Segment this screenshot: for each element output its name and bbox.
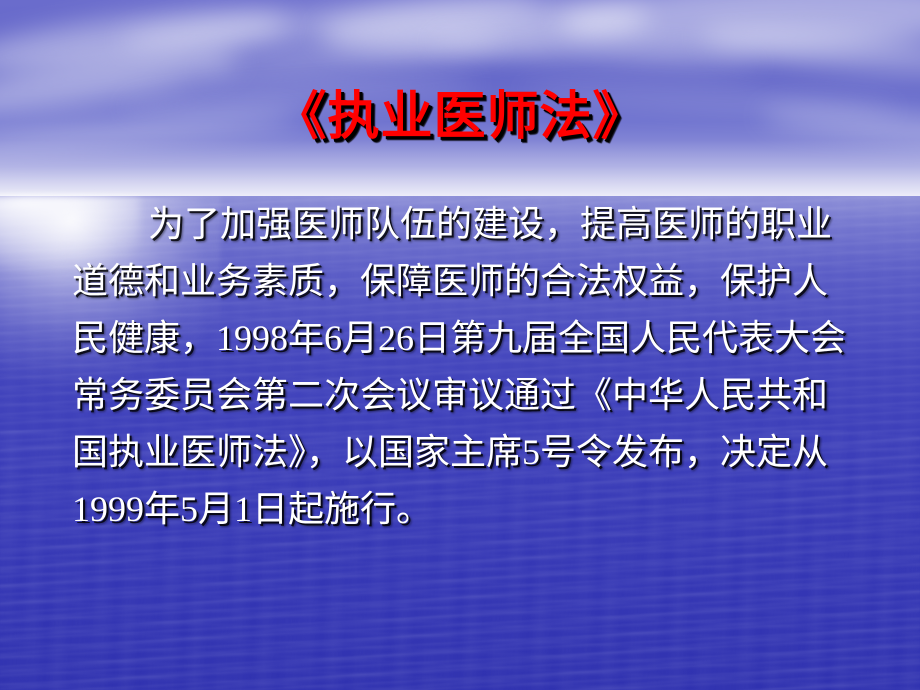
body-line: 常务委员会第二次会议审议通过《中华人民共和 [72,367,862,424]
body-line: 民健康，1998年6月26日第九届全国人民代表大会 [72,310,862,367]
slide-body: 为了加强医师队伍的建设，提高医师的职业 道德和业务素质，保障医师的合法权益，保护… [72,196,862,538]
slide-title: 《执业医师法》 [0,88,920,148]
body-line: 国执业医师法》，以国家主席5号令发布，决定从 [72,424,862,481]
slide-content: 《执业医师法》 为了加强医师队伍的建设，提高医师的职业 道德和业务素质，保障医师… [0,0,920,690]
presentation-slide: 《执业医师法》 为了加强医师队伍的建设，提高医师的职业 道德和业务素质，保障医师… [0,0,920,690]
body-line: 为了加强医师队伍的建设，提高医师的职业 [72,196,862,253]
body-line: 道德和业务素质，保障医师的合法权益，保护人 [72,253,862,310]
body-line: 1999年5月1日起施行。 [72,481,862,538]
